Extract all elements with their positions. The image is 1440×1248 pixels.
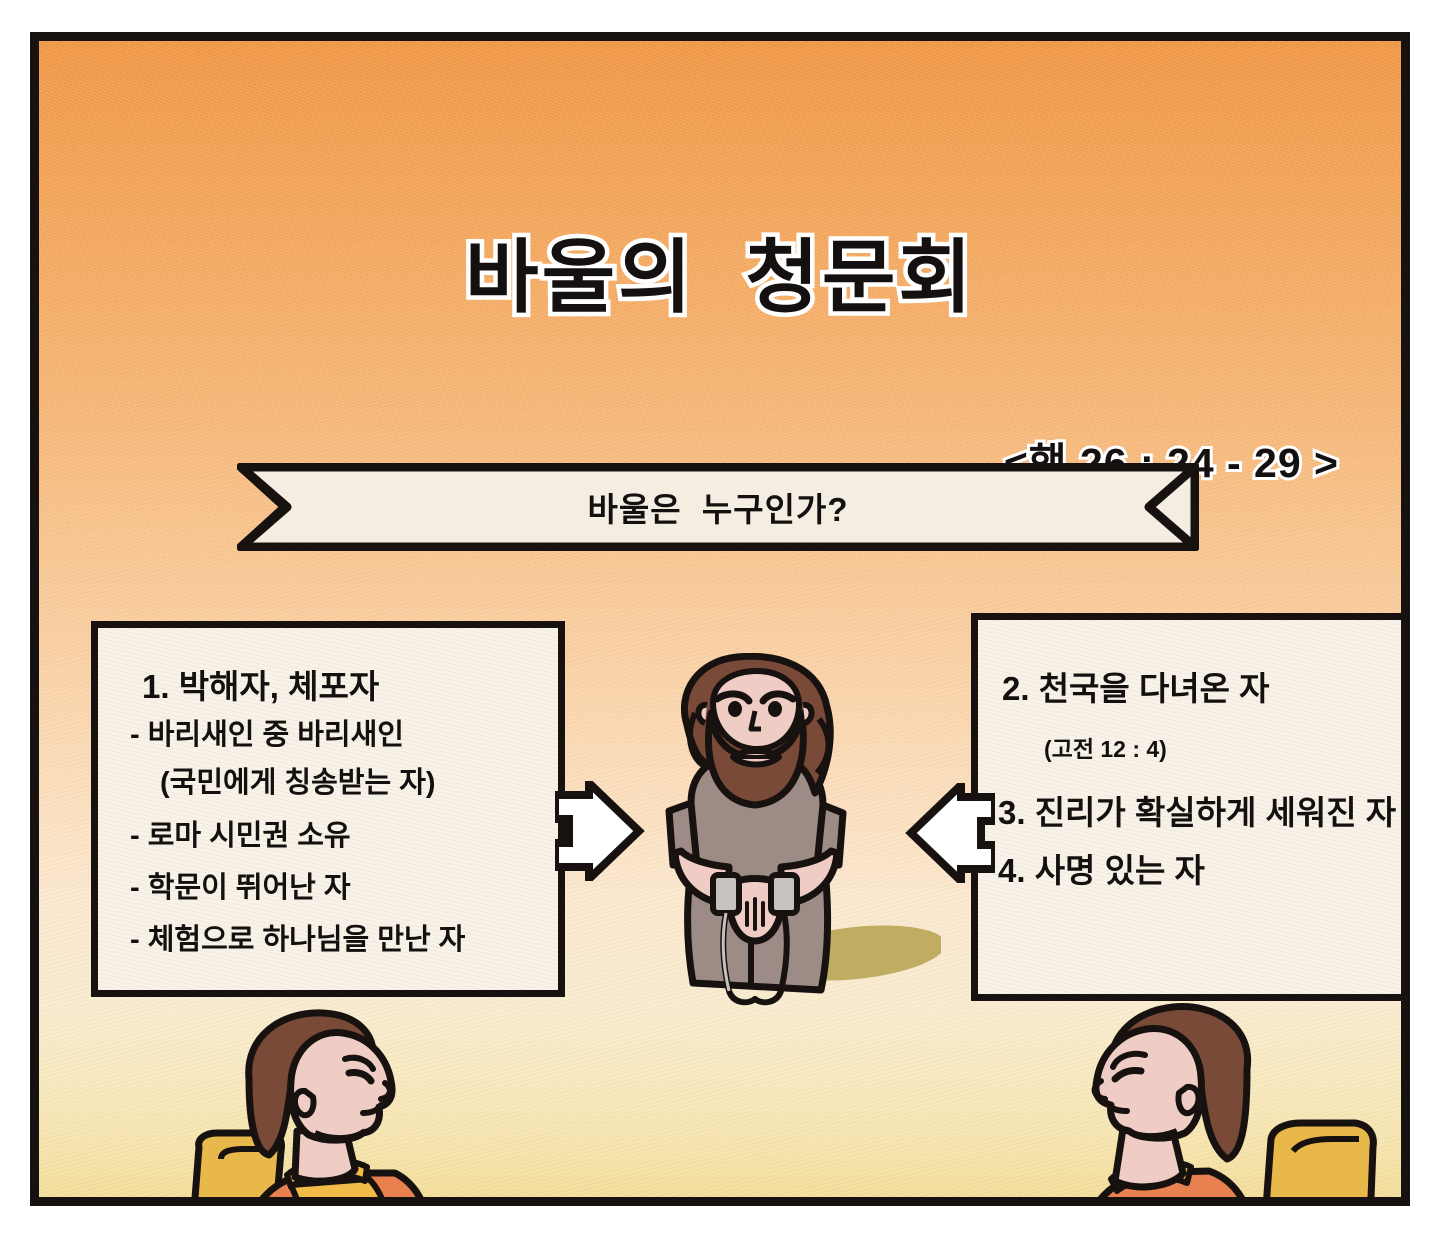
- figure-paul: [651, 653, 941, 1013]
- right-box-item-4: 4. 사명 있는 자: [998, 844, 1205, 892]
- info-box-right: 2. 천국을 다녀온 자 (고전 12 : 4) 3. 진리가 확실하게 세워진…: [971, 613, 1410, 1001]
- right-box-item-3: 3. 진리가 확실하게 세워진 자: [998, 786, 1396, 834]
- listener-right-illustration: [1057, 1003, 1387, 1206]
- info-box-left: 1. 박해자, 체포자 - 바리새인 중 바리새인 (국민에게 칭송받는 자) …: [91, 621, 565, 997]
- banner-question-text: 바울은 누구인가?: [237, 463, 1199, 551]
- arrow-right-icon: [555, 781, 645, 881]
- right-box-item-2: 2. 천국을 다녀온 자: [1002, 662, 1270, 710]
- left-box-item-1-sub: (국민에게 칭송받는 자): [160, 759, 436, 801]
- right-box-item-2-ref: (고전 12 : 4): [1044, 730, 1167, 764]
- arrow-right-shape: [555, 781, 645, 881]
- left-box-item-1: - 바리새인 중 바리새인: [130, 711, 404, 753]
- left-box-heading: 1. 박해자, 체포자: [142, 660, 379, 708]
- paul-illustration: [651, 653, 941, 1013]
- figure-listener-left: [187, 1009, 497, 1206]
- question-banner: 바울은 누구인가?: [237, 463, 1199, 551]
- left-box-item-2: - 로마 시민권 소유: [130, 812, 351, 854]
- listener-left-illustration: [187, 1009, 497, 1206]
- page-title: 바울의 청문회: [39, 213, 1401, 329]
- left-box-item-3: - 학문이 뛰어난 자: [130, 864, 351, 906]
- figure-listener-right: [1057, 1003, 1387, 1206]
- slide-frame: 바울의 청문회 <행 26 : 24 - 29 > 바울은 누구인가? 1. 박…: [30, 32, 1410, 1206]
- left-box-item-4: - 체험으로 하나님을 만난 자: [130, 916, 465, 958]
